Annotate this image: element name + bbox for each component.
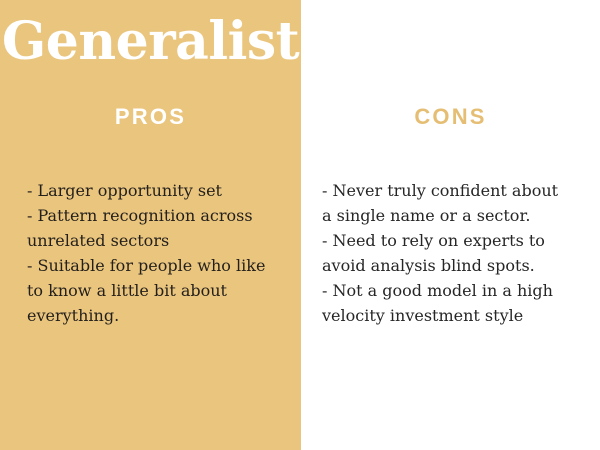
cons-line: avoid analysis blind spots. <box>322 253 574 278</box>
cons-line: - Need to rely on experts to <box>322 228 574 253</box>
pros-text-block: - Larger opportunity set - Pattern recog… <box>27 178 279 328</box>
cons-column-heading: CONS <box>301 104 600 130</box>
cons-line: - Never truly confident about <box>322 178 574 203</box>
slide-canvas: Generalist PROS CONS - Larger opportunit… <box>0 0 600 450</box>
pros-line: - Pattern recognition across <box>27 203 279 228</box>
cons-line: a single name or a sector. <box>322 203 574 228</box>
cons-line: velocity investment style <box>322 303 574 328</box>
pros-column-heading: PROS <box>0 104 301 130</box>
cons-line: - Not a good model in a high <box>322 278 574 303</box>
pros-line: - Larger opportunity set <box>27 178 279 203</box>
pros-line: everything. <box>27 303 279 328</box>
cons-text-block: - Never truly confident about a single n… <box>322 178 574 328</box>
pros-line: to know a little bit about <box>27 278 279 303</box>
page-title: Generalist <box>0 12 301 72</box>
pros-line: unrelated sectors <box>27 228 279 253</box>
pros-line: - Suitable for people who like <box>27 253 279 278</box>
